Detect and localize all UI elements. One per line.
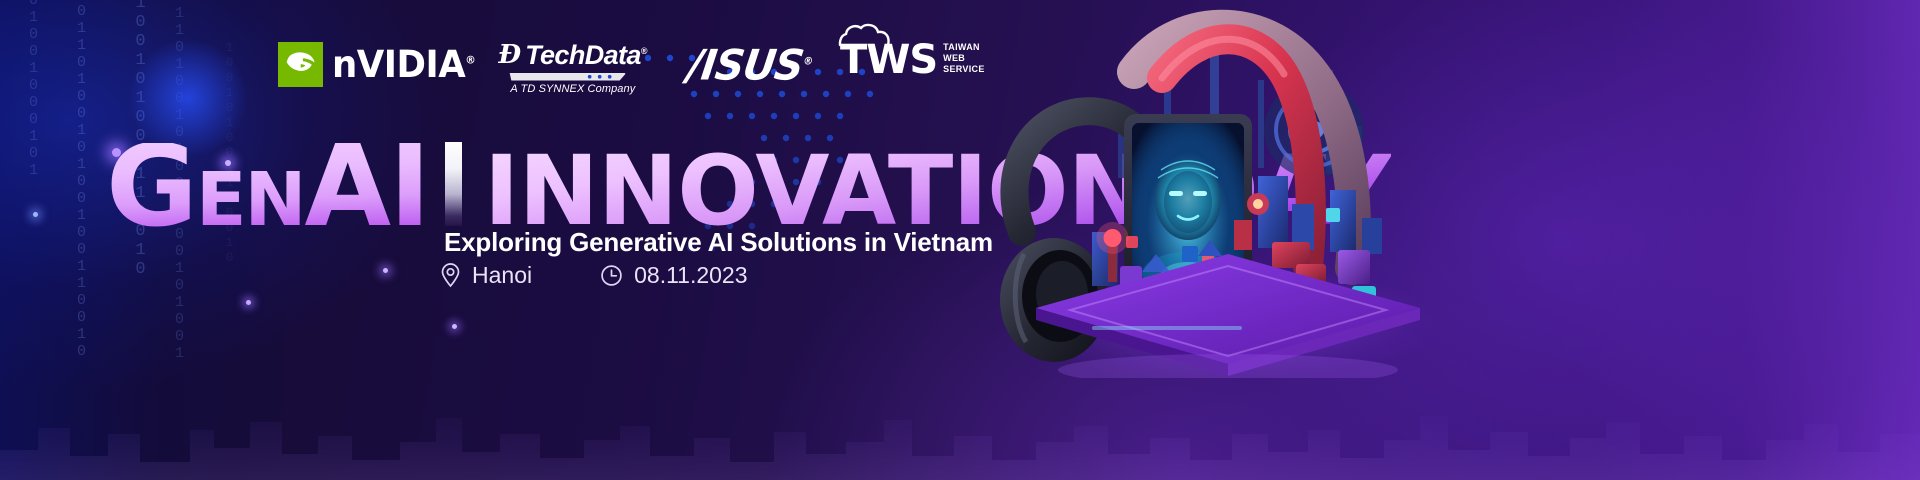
nvidia-logo[interactable]: nVIDIA® — [278, 40, 478, 88]
clock-icon — [600, 264, 623, 287]
genai-en: EN — [196, 157, 304, 243]
glow-dot — [383, 268, 388, 273]
genai-wordmark: GENAI — [106, 143, 429, 233]
tws-cloud-icon — [838, 23, 896, 47]
asus-wordmark: /ISUS® — [685, 45, 814, 87]
event-location-label: Hanoi — [472, 262, 532, 289]
headline-divider-bar — [445, 142, 462, 226]
event-banner: 01001000101 1011010010100100110010 10010… — [0, 0, 1920, 480]
techdata-logo[interactable]: Ɖ TechData® A TD SYNNEX Company — [498, 38, 638, 100]
partner-logo-row: nVIDIA® Ɖ TechData® A TD SYNNEX Company … — [278, 34, 985, 100]
event-location: Hanoi — [440, 262, 532, 289]
glow-dot — [246, 300, 251, 305]
tws-tagline-line3: SERVICE — [943, 64, 984, 75]
tagline: Exploring Generative AI Solutions in Vie… — [444, 227, 993, 258]
map-pin-icon — [440, 263, 461, 288]
tws-tagline: TAIWAN WEB SERVICE — [943, 42, 984, 75]
techdata-underline-rule — [498, 73, 638, 83]
right-edge-vignette — [1600, 0, 1920, 480]
event-date-label: 08.11.2023 — [634, 262, 747, 289]
asus-logo[interactable]: /ISUS® — [688, 46, 812, 86]
glow-dot — [452, 324, 457, 329]
event-date: 08.11.2023 — [600, 262, 747, 289]
event-meta-row: Hanoi 08.11.2023 — [440, 262, 748, 289]
glow-dot — [33, 212, 38, 217]
binary-stream-2: 1011010010100100110010 — [74, 0, 89, 360]
techdata-wordmark: TechData® — [525, 42, 647, 69]
genai-tech-isometric-illustration — [996, 8, 1466, 378]
tws-logo[interactable]: TWS TAIWAN WEB SERVICE — [840, 42, 985, 78]
techdata-subtitle: A TD SYNNEX Company — [510, 83, 635, 95]
tws-tagline-line2: WEB — [943, 53, 984, 64]
binary-stream-1: 01001000101 — [26, 0, 41, 179]
genai-ai: AI — [304, 122, 428, 252]
genai-g: G — [106, 122, 196, 252]
nvidia-wordmark: nVIDIA® — [332, 46, 475, 83]
nvidia-eye-icon — [278, 42, 323, 87]
tws-tagline-line1: TAIWAN — [943, 42, 984, 53]
techdata-mark-icon: Ɖ — [498, 42, 521, 68]
